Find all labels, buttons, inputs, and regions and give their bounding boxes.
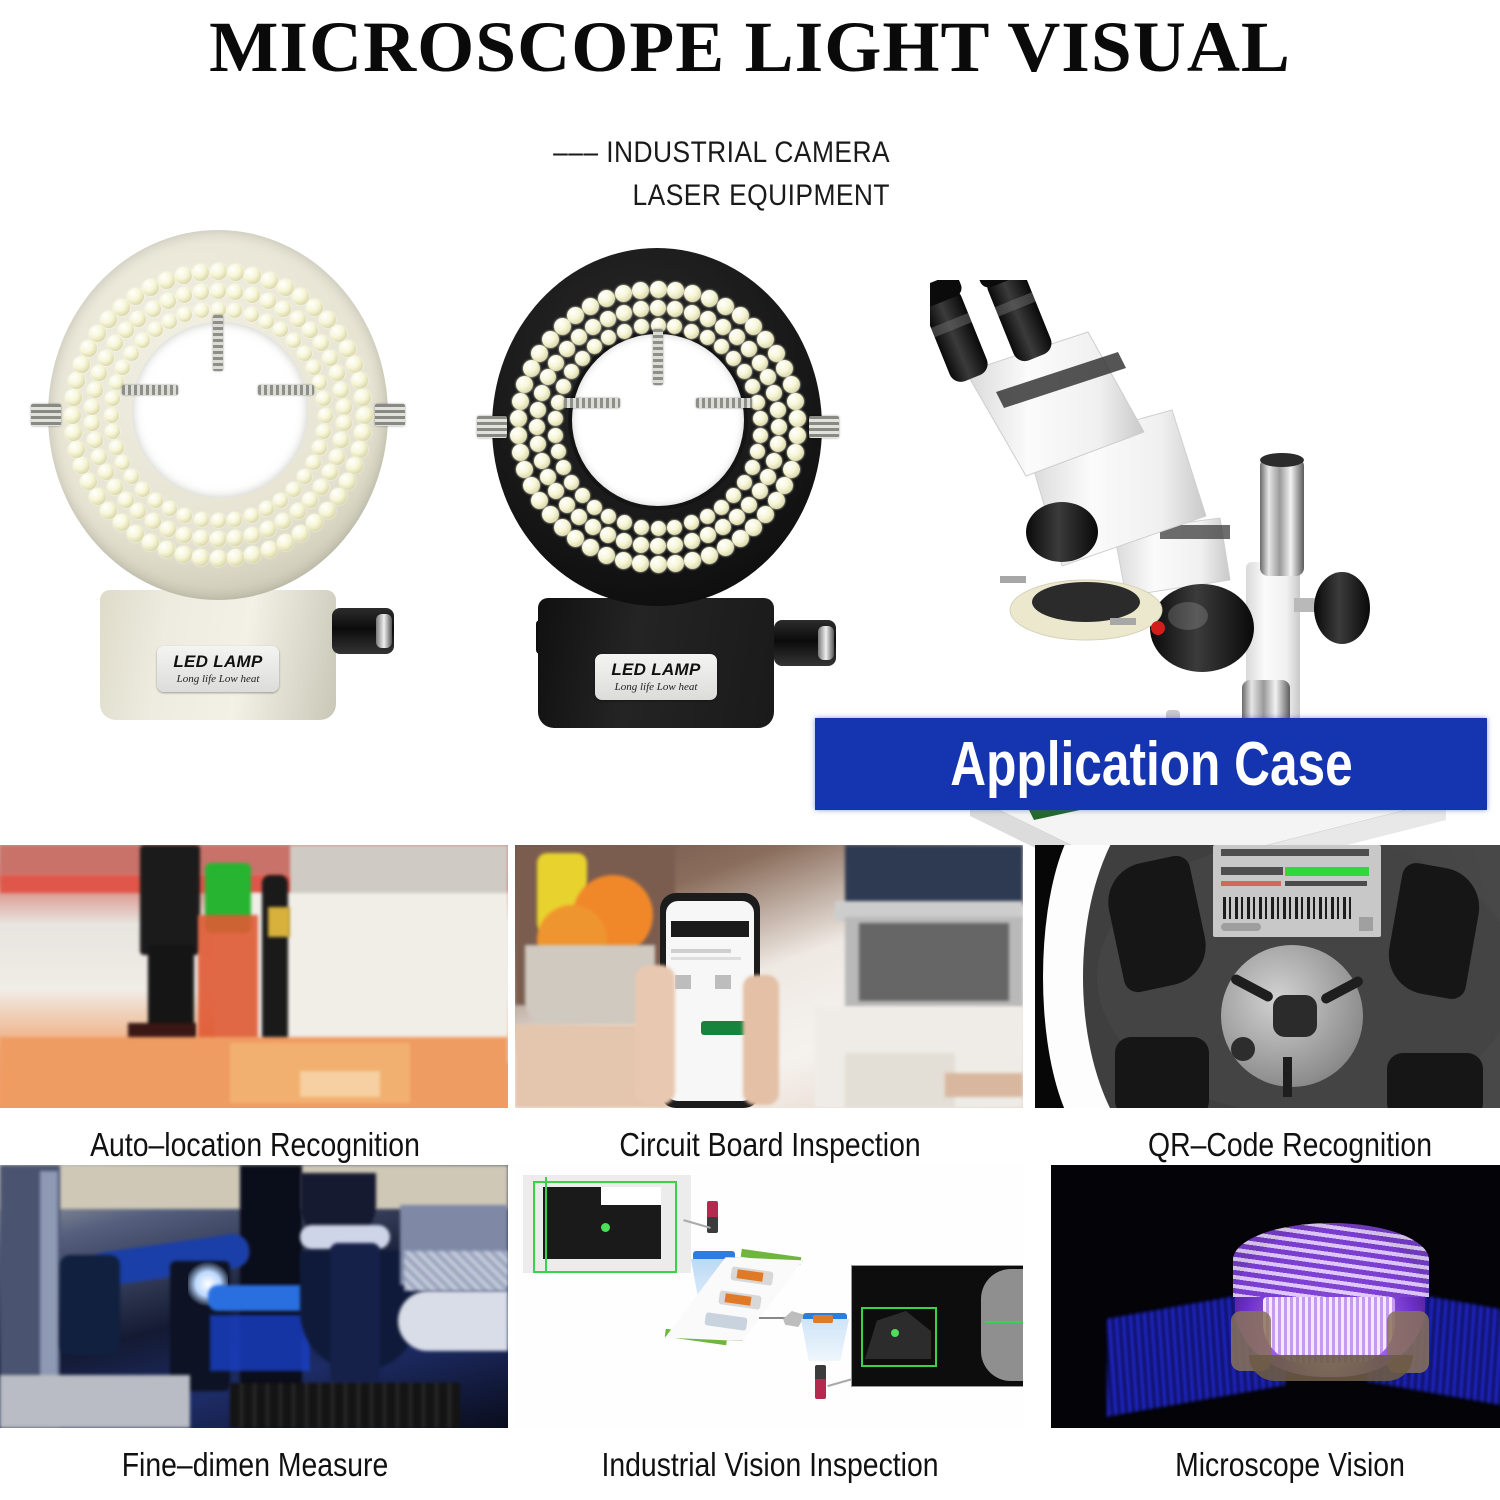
led-element	[753, 428, 768, 443]
led-element	[760, 469, 776, 485]
led-element	[329, 449, 345, 465]
led-element	[701, 547, 718, 564]
led-element	[127, 525, 144, 542]
led-element	[650, 300, 666, 316]
led-element	[768, 345, 785, 362]
led-element	[559, 341, 575, 357]
lamp-label-plate: LED LAMP Long life Low heat	[595, 654, 717, 700]
led-element	[193, 284, 209, 300]
case-card-auto-location[interactable]: Auto–location Recognition	[0, 845, 510, 1161]
case-card-fine-dimen[interactable]: Fine–dimen Measure	[0, 1165, 510, 1481]
led-element	[105, 424, 120, 439]
led-element	[651, 521, 666, 536]
led-element	[100, 502, 117, 519]
led-element	[598, 547, 615, 564]
led-element	[575, 351, 590, 366]
led-element	[158, 272, 175, 289]
led-element	[770, 436, 786, 452]
led-element	[634, 319, 649, 334]
led-element	[113, 514, 130, 531]
led-element	[145, 301, 161, 317]
led-element	[542, 506, 559, 523]
mounting-screw[interactable]	[375, 404, 405, 426]
led-element	[737, 364, 752, 379]
led-element	[124, 346, 139, 361]
led-element	[80, 340, 97, 357]
led-element	[750, 395, 765, 410]
led-element	[297, 346, 312, 361]
led-element	[227, 512, 242, 527]
case-caption: Circuit Board Inspection	[551, 1108, 990, 1161]
led-element	[523, 477, 540, 494]
led-element	[98, 350, 114, 366]
led-element	[160, 521, 176, 537]
led-element	[65, 389, 82, 406]
led-element	[556, 379, 571, 394]
led-element	[135, 333, 150, 348]
led-element	[244, 307, 259, 322]
led-element	[771, 419, 787, 435]
focus-knob-right	[1294, 572, 1370, 644]
led-element	[540, 469, 556, 485]
led-element	[770, 402, 786, 418]
led-element	[571, 329, 587, 345]
led-element	[667, 282, 684, 299]
case-card-microscope-vision[interactable]: Microscope Vision	[1035, 1165, 1500, 1481]
brightness-knob[interactable]	[774, 620, 836, 666]
application-case-banner: Application Case	[815, 718, 1487, 810]
led-element	[135, 482, 150, 497]
led-element	[529, 419, 545, 435]
case-caption: Fine–dimen Measure	[36, 1428, 475, 1481]
case-caption: Industrial Vision Inspection	[551, 1428, 990, 1481]
led-element	[531, 345, 548, 362]
led-element	[510, 427, 527, 444]
led-element	[542, 331, 559, 348]
led-element	[227, 264, 244, 281]
led-element	[306, 360, 321, 375]
led-element	[783, 376, 800, 393]
microscope-vision-photo	[1035, 1165, 1500, 1428]
led-element	[650, 281, 667, 298]
adjustment-screw[interactable]	[258, 385, 314, 395]
mounting-screw[interactable]	[31, 404, 61, 426]
led-element	[617, 324, 632, 339]
led-element	[510, 410, 527, 427]
led-element	[615, 285, 632, 302]
led-element	[64, 407, 81, 424]
led-element	[512, 393, 529, 410]
led-element	[319, 502, 336, 519]
led-element	[127, 288, 144, 305]
led-element	[548, 428, 563, 443]
led-element	[783, 461, 800, 478]
led-element	[210, 550, 227, 567]
lamp-label-title: LED LAMP	[611, 661, 700, 678]
case-card-industrial-vision[interactable]: Industrial Vision Inspection	[515, 1165, 1025, 1481]
led-element	[732, 530, 749, 547]
application-case-grid: Auto–location Recognition	[0, 845, 1500, 1500]
adjustment-screw[interactable]	[213, 315, 223, 371]
led-element	[145, 513, 161, 529]
led-element	[68, 441, 85, 458]
led-element	[162, 314, 177, 329]
lamp-label-title: LED LAMP	[173, 653, 262, 670]
led-element	[752, 355, 768, 371]
led-element	[667, 520, 682, 535]
led-element	[582, 298, 599, 315]
led-element	[551, 444, 566, 459]
led-element	[175, 546, 192, 563]
led-element	[616, 305, 632, 321]
led-element	[700, 509, 715, 524]
led-element	[104, 408, 119, 423]
focus-knob-main	[1150, 584, 1254, 672]
led-element	[787, 393, 804, 410]
led-element	[115, 360, 130, 375]
adjustment-screw[interactable]	[564, 398, 620, 408]
mounting-screw[interactable]	[809, 416, 839, 438]
led-element	[210, 283, 226, 299]
led-element	[176, 527, 192, 543]
case-caption: Auto–location Recognition	[36, 1108, 475, 1161]
led-element	[87, 432, 103, 448]
led-element	[259, 314, 274, 329]
led-element	[175, 267, 192, 284]
led-element	[105, 391, 120, 406]
led-element	[789, 410, 806, 427]
product-hero-row: LED LAMP Long life Low heat LED LAMP Lon…	[0, 200, 1500, 720]
led-element	[227, 530, 243, 546]
led-element	[68, 372, 85, 389]
led-element	[632, 282, 649, 299]
led-ring-assembly	[492, 248, 822, 606]
led-element	[700, 311, 716, 327]
page-title: MICROSCOPE LIGHT VISUAL	[0, 6, 1500, 89]
led-element	[318, 408, 333, 423]
adjustment-screw[interactable]	[122, 385, 178, 395]
led-element	[107, 479, 123, 495]
led-element	[615, 552, 632, 569]
led-element	[210, 263, 227, 280]
led-element	[260, 521, 276, 537]
led-element	[193, 530, 209, 546]
led-element	[142, 534, 159, 551]
led-element	[244, 527, 260, 543]
led-element	[118, 492, 134, 508]
led-element	[192, 264, 209, 281]
brightness-knob[interactable]	[332, 608, 394, 654]
led-element	[766, 453, 782, 469]
led-element	[194, 512, 209, 527]
led-element	[600, 311, 616, 327]
led-element	[290, 503, 306, 519]
led-element	[548, 355, 564, 371]
mounting-screw[interactable]	[477, 416, 507, 438]
case-card-qr-code[interactable]: QR–Code Recognition	[1035, 845, 1500, 1161]
led-element	[339, 340, 356, 357]
led-element	[160, 293, 176, 309]
led-element	[650, 556, 667, 573]
black-led-ring-light: LED LAMP Long life Low heat	[486, 248, 826, 728]
led-element	[322, 464, 338, 480]
qr-code-recognition-photo	[1035, 845, 1500, 1108]
led-element	[148, 322, 163, 337]
led-element	[87, 382, 103, 398]
led-element	[585, 319, 601, 335]
led-element	[142, 279, 159, 296]
circuit-board-inspection-photo	[515, 845, 1023, 1108]
led-element	[336, 399, 352, 415]
led-element	[714, 500, 729, 515]
led-element	[109, 440, 124, 455]
application-case-label: Application Case	[950, 729, 1352, 800]
led-element	[559, 497, 575, 513]
led-element	[113, 299, 130, 316]
case-caption: Microscope Vision	[1071, 1428, 1500, 1481]
led-element	[73, 356, 90, 373]
case-caption: QR–Code Recognition	[1071, 1108, 1500, 1161]
industrial-vision-inspection-photo	[515, 1165, 1023, 1428]
lamp-label-subtitle: Long life Low heat	[177, 674, 260, 685]
led-element	[737, 475, 752, 490]
led-element	[330, 325, 347, 342]
led-element	[633, 537, 649, 553]
led-element	[633, 301, 649, 317]
led-element	[65, 424, 82, 441]
led-element	[244, 508, 259, 523]
fine-dimen-measure-photo	[0, 1165, 508, 1428]
case-card-circuit-board[interactable]: Circuit Board Inspection	[515, 845, 1025, 1161]
led-element	[745, 460, 760, 475]
white-led-ring-light: LED LAMP Long life Low heat	[48, 230, 388, 720]
led-element	[700, 330, 715, 345]
led-element	[91, 449, 107, 465]
led-element	[148, 493, 163, 508]
led-element	[745, 379, 760, 394]
led-element	[726, 351, 741, 366]
led-element	[158, 541, 175, 558]
led-element	[587, 500, 602, 515]
led-element	[523, 360, 540, 377]
auto-location-recognition-photo	[0, 845, 508, 1108]
led-ring-assembly	[48, 230, 388, 600]
led-element	[210, 531, 226, 547]
adjustment-screw[interactable]	[696, 398, 752, 408]
led-element	[356, 407, 373, 424]
header: MICROSCOPE LIGHT VISUAL ––– INDUSTRIAL C…	[0, 0, 1500, 210]
power-indicator-led	[1151, 621, 1165, 635]
led-element	[346, 356, 363, 373]
led-element	[322, 350, 338, 366]
led-element	[585, 519, 601, 535]
led-element	[571, 509, 587, 525]
led-element	[684, 324, 699, 339]
lamp-label-subtitle: Long life Low heat	[615, 682, 698, 693]
led-element	[575, 488, 590, 503]
led-element	[313, 479, 329, 495]
led-element	[634, 520, 649, 535]
subtitle-line-1: ––– INDUSTRIAL CAMERA	[371, 132, 890, 175]
led-element	[333, 382, 349, 398]
adjustment-screw[interactable]	[653, 329, 663, 385]
led-element	[776, 360, 793, 377]
led-element	[684, 305, 700, 321]
led-element	[84, 399, 100, 415]
lamp-label-plate: LED LAMP Long life Low heat	[157, 646, 279, 692]
led-element	[211, 513, 226, 528]
led-element	[534, 453, 550, 469]
led-element	[548, 411, 563, 426]
led-element	[554, 519, 571, 536]
